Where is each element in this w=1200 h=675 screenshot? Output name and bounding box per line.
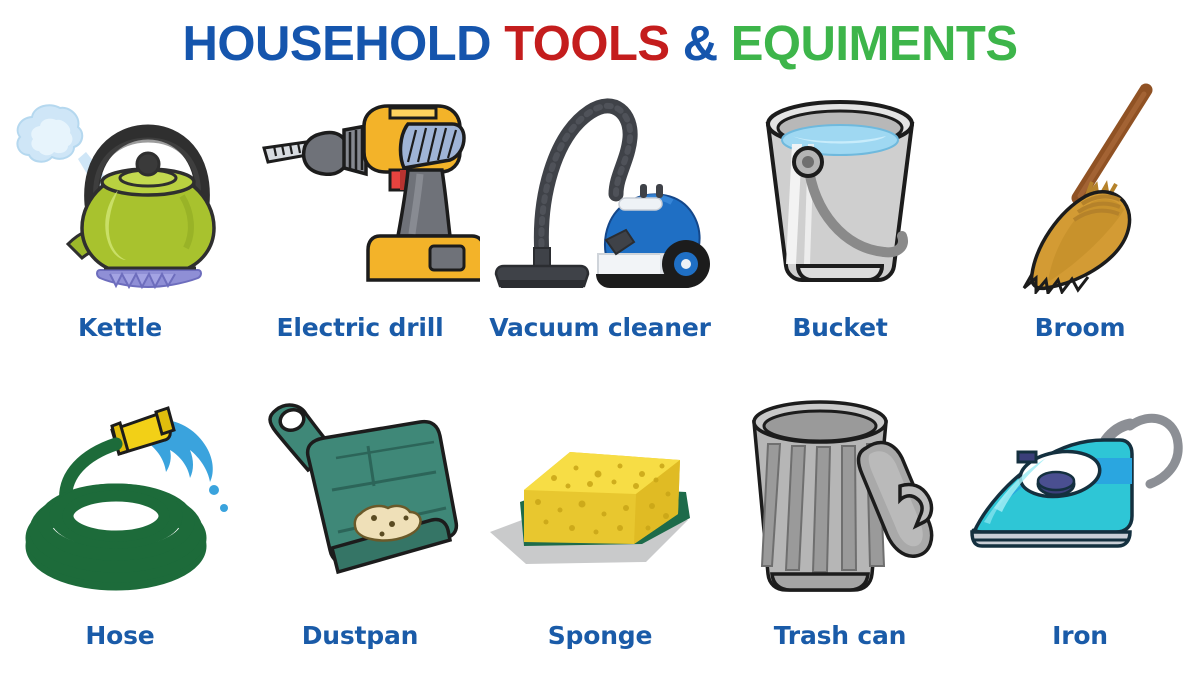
item-sponge[interactable]: Sponge — [480, 382, 720, 650]
item-label: Vacuum cleaner — [480, 313, 720, 342]
bucket-illustration — [720, 78, 960, 294]
item-label: Kettle — [0, 313, 240, 342]
item-label: Sponge — [480, 621, 720, 650]
item-label: Dustpan — [240, 621, 480, 650]
broom-illustration — [960, 78, 1200, 294]
item-hose[interactable]: Hose — [0, 382, 240, 650]
gas-flame-icon — [97, 268, 201, 287]
iron-illustration — [960, 382, 1200, 598]
item-label: Bucket — [720, 313, 960, 342]
title-part-equiments: EQUIMENTS — [731, 17, 1018, 71]
item-label: Electric drill — [240, 313, 480, 342]
item-label: Trash can — [720, 621, 960, 650]
broom-handle-icon — [1078, 90, 1146, 198]
hose-coil-icon — [32, 490, 200, 584]
dirt-pile-icon — [355, 506, 421, 541]
item-broom[interactable]: Broom — [960, 78, 1200, 346]
item-dustpan[interactable]: Dustpan — [240, 382, 480, 650]
item-iron[interactable]: Iron — [960, 382, 1200, 650]
trash-can-illustration — [720, 382, 960, 598]
title-part-tools: TOOLS — [504, 17, 683, 71]
electric-drill-illustration — [240, 78, 480, 294]
page-title: HOUSEHOLD TOOLS & EQUIMENTS — [0, 16, 1200, 72]
sponge-illustration — [480, 382, 720, 598]
item-label: Hose — [0, 621, 240, 650]
item-label: Broom — [960, 313, 1200, 342]
item-kettle[interactable]: Kettle — [0, 78, 240, 346]
kettle-illustration — [0, 78, 240, 294]
item-bucket[interactable]: Bucket — [720, 78, 960, 346]
items-row-1: Kettle — [0, 78, 1200, 346]
items-row-2: Hose — [0, 382, 1200, 650]
hose-illustration — [0, 382, 240, 598]
title-part-ampersand: & — [683, 17, 731, 71]
item-vacuum-cleaner[interactable]: Vacuum cleaner — [480, 78, 720, 346]
title-part-household: HOUSEHOLD — [183, 17, 505, 71]
item-electric-drill[interactable]: Electric drill — [240, 78, 480, 346]
dustpan-illustration — [240, 382, 480, 598]
vacuum-cleaner-illustration — [480, 78, 720, 294]
item-label: Iron — [960, 621, 1200, 650]
poster-root: HOUSEHOLD TOOLS & EQUIMENTS — [0, 0, 1200, 675]
item-trash-can[interactable]: Trash can — [720, 382, 960, 650]
